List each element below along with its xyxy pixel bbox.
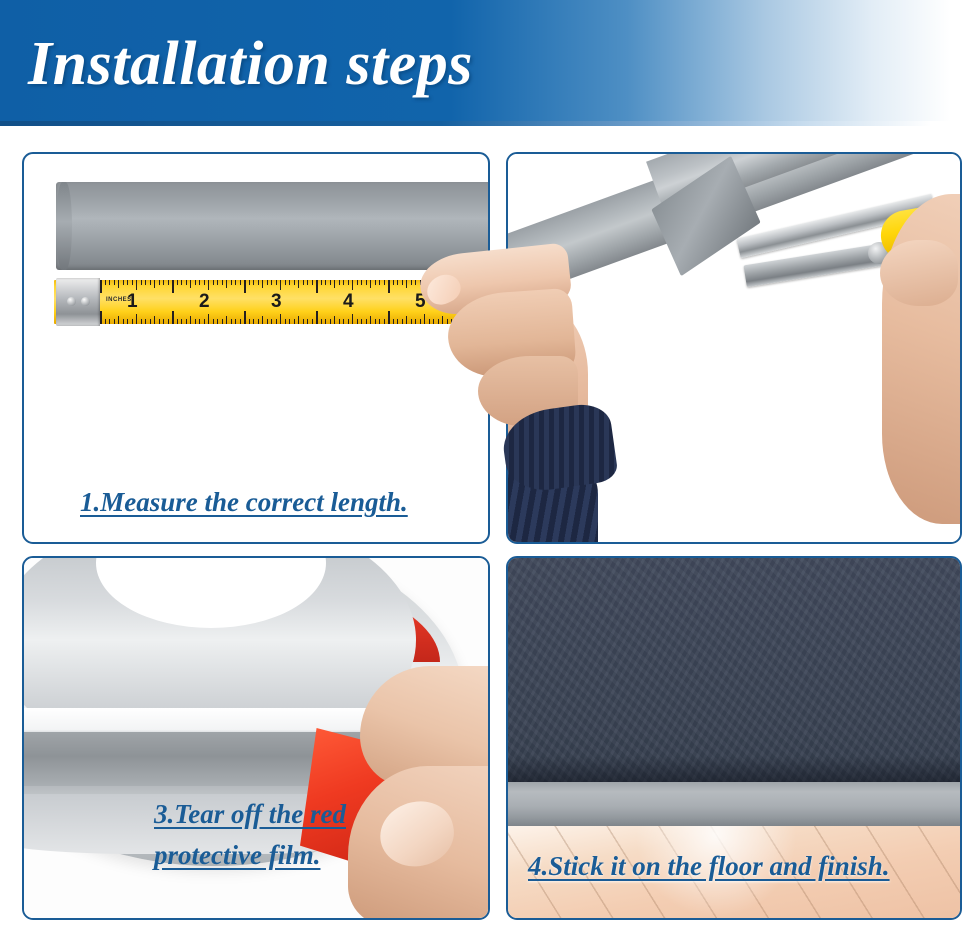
tape-measure-image: INCHES 1 2 3 4 5 <box>54 280 479 324</box>
step-4-caption-line-1: 4.Stick it on the floor and finish. <box>528 851 890 881</box>
step-panel-4: 4.Stick it on the floor and finish. <box>506 556 962 920</box>
steps-grid: INCHES 1 2 3 4 5 1.Measure the correct l… <box>0 126 980 943</box>
tape-number-4: 4 <box>343 292 354 311</box>
flexible-strip-image <box>56 182 490 270</box>
tape-ticks-bottom <box>100 311 479 324</box>
left-sleeve <box>506 454 598 544</box>
tape-number-2: 2 <box>199 292 210 311</box>
step-4-caption: 4.Stick it on the floor and finish. <box>528 846 890 887</box>
step-1-caption: 1.Measure the correct length. <box>80 482 408 523</box>
step-3-caption-line-1: 3.Tear off the red <box>154 794 346 835</box>
right-thumb <box>880 240 958 306</box>
page-title: Installation steps <box>28 20 473 108</box>
tape-number-3: 3 <box>271 292 282 311</box>
installed-trim-strip <box>508 782 960 826</box>
step-3-caption-line-2: protective film. <box>154 835 346 876</box>
step-2-photo <box>508 154 960 542</box>
wall-shadow <box>508 756 960 782</box>
page-header: Installation steps <box>0 0 980 126</box>
peeling-hand <box>356 666 490 920</box>
step-panel-1: INCHES 1 2 3 4 5 1.Measure the correct l… <box>22 152 490 544</box>
step-1-caption-line-1: 1.Measure the correct length. <box>80 487 408 517</box>
tape-number-5: 5 <box>415 292 426 311</box>
tape-hook-icon <box>56 278 100 326</box>
step-panel-2: 2.Use a knife or a scissor to cut the fl… <box>506 152 962 544</box>
wall-image <box>508 558 960 782</box>
step-3-caption: 3.Tear off the red protective film. <box>154 794 346 876</box>
step-panel-3: 3.Tear off the red protective film. <box>22 556 490 920</box>
tape-number-1: 1 <box>127 292 138 311</box>
